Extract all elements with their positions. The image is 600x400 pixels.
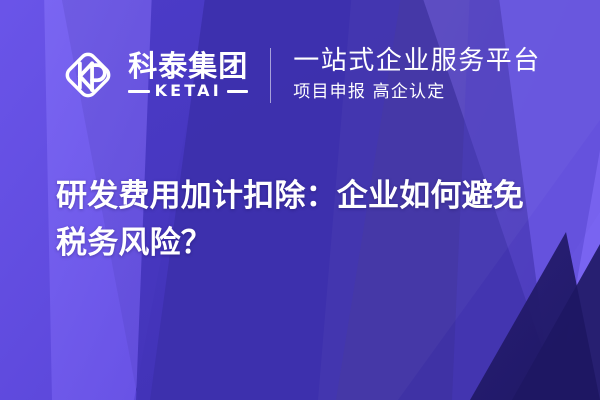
tagline-block: 一站式企业服务平台 项目申报 高企认定 [271,46,541,104]
page-title: 研发费用加计扣除：企业如何避免税务风险？ [56,173,554,267]
ketai-kp-diamond-logo-icon [59,46,117,104]
brand-name-en: KETAI [155,83,222,99]
logo-dash-left-icon [128,90,149,93]
brand-wordmark: 科泰集团 KETAI [128,51,248,100]
logo-dash-right-icon [227,90,248,93]
brand-logo[interactable]: 科泰集团 KETAI [59,46,270,104]
tagline-primary: 一站式企业服务平台 [293,46,541,77]
banner-header: 科泰集团 KETAI 一站式企业服务平台 项目申报 高企认定 [0,0,600,150]
brand-name-en-row: KETAI [128,83,248,99]
brand-name-cn: 科泰集团 [128,51,248,82]
promo-banner: 科泰集团 KETAI 一站式企业服务平台 项目申报 高企认定 研发费用加计扣除：… [0,0,600,400]
tagline-secondary: 项目申报 高企认定 [293,81,541,104]
